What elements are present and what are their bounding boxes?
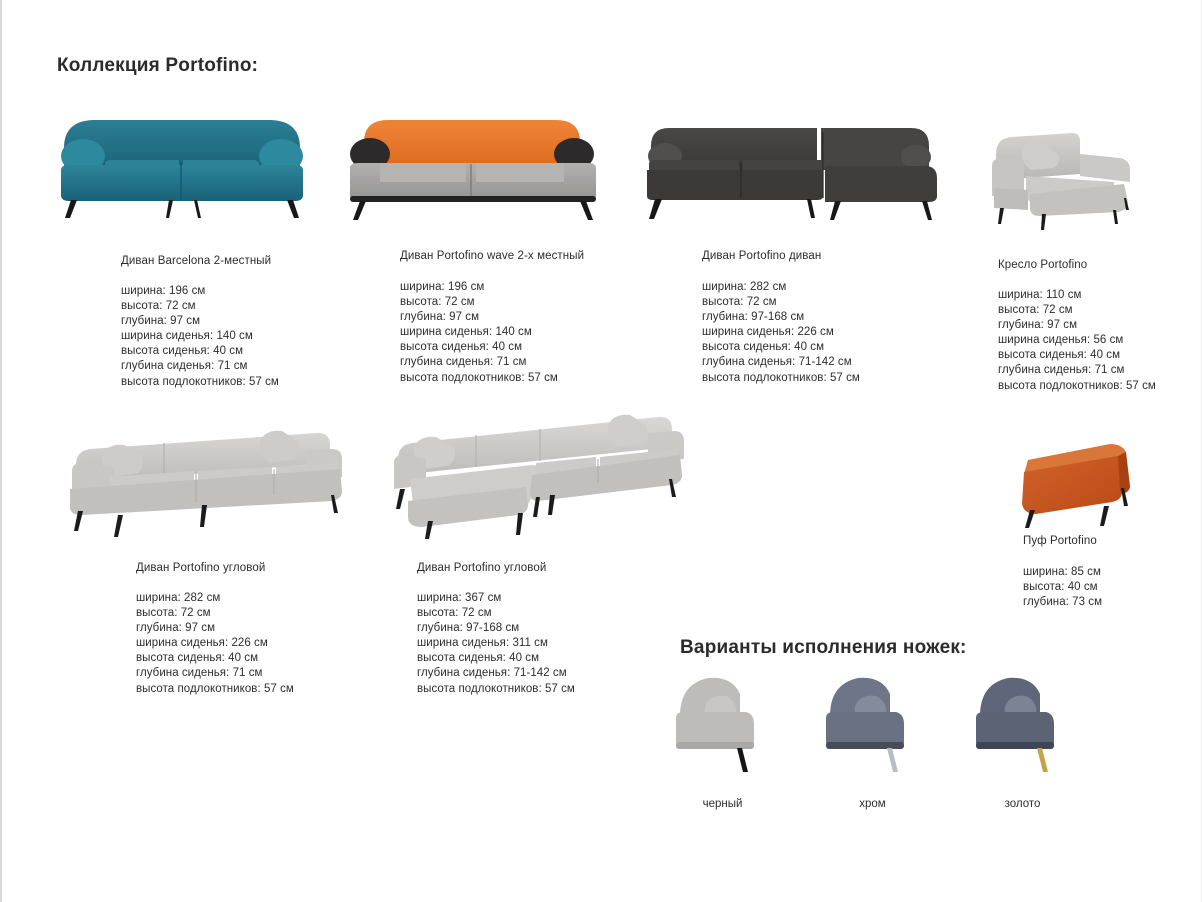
spec-seat-width: ширина сиденья: 140 см <box>121 329 279 344</box>
spec-width: ширина: 196 см <box>400 280 558 295</box>
spec-armrest-height: высота подлокотников: 57 см <box>998 379 1156 394</box>
product-title-portofino-corner-282: Диван Portofino угловой <box>136 562 265 574</box>
spec-seat-height: высота сиденья: 40 см <box>400 340 558 355</box>
spec-armrest-height: высота подлокотников: 57 см <box>400 371 558 386</box>
product-title-portofino-pouf: Пуф Portofino <box>1023 535 1097 547</box>
spec-seat-depth: глубина сиденья: 71 см <box>121 359 279 374</box>
spec-seat-height: высота сиденья: 40 см <box>121 344 279 359</box>
product-specs-portofino-divan: ширина: 282 см высота: 72 см глубина: 97… <box>702 280 860 386</box>
spec-height: высота: 72 см <box>998 303 1156 318</box>
leg-variant-image-chrome <box>820 668 925 780</box>
spec-armrest-height: высота подлокотников: 57 см <box>136 682 294 697</box>
product-image-portofino-corner-282 <box>54 415 359 540</box>
spec-height: высота: 72 см <box>136 606 294 621</box>
spec-seat-depth: глубина сиденья: 71-142 см <box>417 666 575 681</box>
spec-depth: глубина: 97 см <box>400 310 558 325</box>
product-specs-portofino-corner-282: ширина: 282 см высота: 72 см глубина: 97… <box>136 591 294 697</box>
product-title-portofino-wave-2: Диван Portofino wave 2-х местный <box>400 250 584 262</box>
spec-depth: глубина: 97 см <box>121 314 279 329</box>
spec-width: ширина: 196 см <box>121 284 279 299</box>
product-specs-barcelona-2: ширина: 196 см высота: 72 см глубина: 97… <box>121 284 279 390</box>
product-image-portofino-corner-367 <box>380 405 698 540</box>
spec-seat-depth: глубина сиденья: 71-142 см <box>702 355 860 370</box>
spec-depth: глубина: 97 см <box>136 621 294 636</box>
spec-armrest-height: высота подлокотников: 57 см <box>417 682 575 697</box>
spec-width: ширина: 367 см <box>417 591 575 606</box>
product-title-portofino-corner-367: Диван Portofino угловой <box>417 562 546 574</box>
spec-seat-height: высота сиденья: 40 см <box>136 651 294 666</box>
spec-width: ширина: 85 см <box>1023 565 1102 580</box>
spec-depth: глубина: 97 см <box>998 318 1156 333</box>
product-specs-portofino-pouf: ширина: 85 см высота: 40 см глубина: 73 … <box>1023 565 1102 610</box>
spec-height: высота: 72 см <box>121 299 279 314</box>
spec-depth: глубина: 97-168 см <box>702 310 860 325</box>
product-image-portofino-armchair <box>984 124 1146 234</box>
spec-seat-depth: глубина сиденья: 71 см <box>136 666 294 681</box>
leg-variant-label-chrome: хром <box>820 798 925 810</box>
legs-section-title: Варианты исполнения ножек: <box>680 637 967 659</box>
spec-depth: глубина: 73 см <box>1023 595 1102 610</box>
product-image-portofino-wave-2 <box>338 108 606 226</box>
spec-width: ширина: 282 см <box>136 591 294 606</box>
spec-seat-width: ширина сиденья: 56 см <box>998 333 1156 348</box>
product-title-portofino-armchair: Кресло Portofino <box>998 259 1087 271</box>
spec-seat-depth: глубина сиденья: 71 см <box>400 355 558 370</box>
product-title-barcelona-2: Диван Barcelona 2-местный <box>121 255 271 267</box>
leg-variant-image-gold <box>970 668 1075 780</box>
leg-variant-label-black: черный <box>670 798 775 810</box>
spec-seat-width: ширина сиденья: 226 см <box>136 636 294 651</box>
catalog-page: Коллекция Portofino: <box>0 0 1202 902</box>
spec-seat-width: ширина сиденья: 140 см <box>400 325 558 340</box>
spec-width: ширина: 282 см <box>702 280 860 295</box>
spec-seat-height: высота сиденья: 40 см <box>702 340 860 355</box>
product-specs-portofino-corner-367: ширина: 367 см высота: 72 см глубина: 97… <box>417 591 575 697</box>
spec-armrest-height: высота подлокотников: 57 см <box>121 375 279 390</box>
spec-width: ширина: 110 см <box>998 288 1156 303</box>
product-specs-portofino-wave-2: ширина: 196 см высота: 72 см глубина: 97… <box>400 280 558 386</box>
spec-height: высота: 72 см <box>400 295 558 310</box>
product-image-portofino-divan <box>639 108 944 226</box>
spec-height: высота: 72 см <box>702 295 860 310</box>
spec-seat-height: высота сиденья: 40 см <box>998 348 1156 363</box>
product-image-barcelona-2 <box>47 108 317 226</box>
product-image-portofino-pouf <box>992 430 1152 530</box>
leg-variant-label-gold: золото <box>970 798 1075 810</box>
page-title: Коллекция Portofino: <box>57 55 258 77</box>
spec-seat-width: ширина сиденья: 311 см <box>417 636 575 651</box>
product-specs-portofino-armchair: ширина: 110 см высота: 72 см глубина: 97… <box>998 288 1156 394</box>
spec-height: высота: 72 см <box>417 606 575 621</box>
spec-seat-depth: глубина сиденья: 71 см <box>998 363 1156 378</box>
spec-seat-width: ширина сиденья: 226 см <box>702 325 860 340</box>
product-title-portofino-divan: Диван Portofino диван <box>702 250 821 262</box>
leg-variant-image-black <box>670 668 775 780</box>
spec-depth: глубина: 97-168 см <box>417 621 575 636</box>
spec-armrest-height: высота подлокотников: 57 см <box>702 371 860 386</box>
spec-seat-height: высота сиденья: 40 см <box>417 651 575 666</box>
spec-height: высота: 40 см <box>1023 580 1102 595</box>
